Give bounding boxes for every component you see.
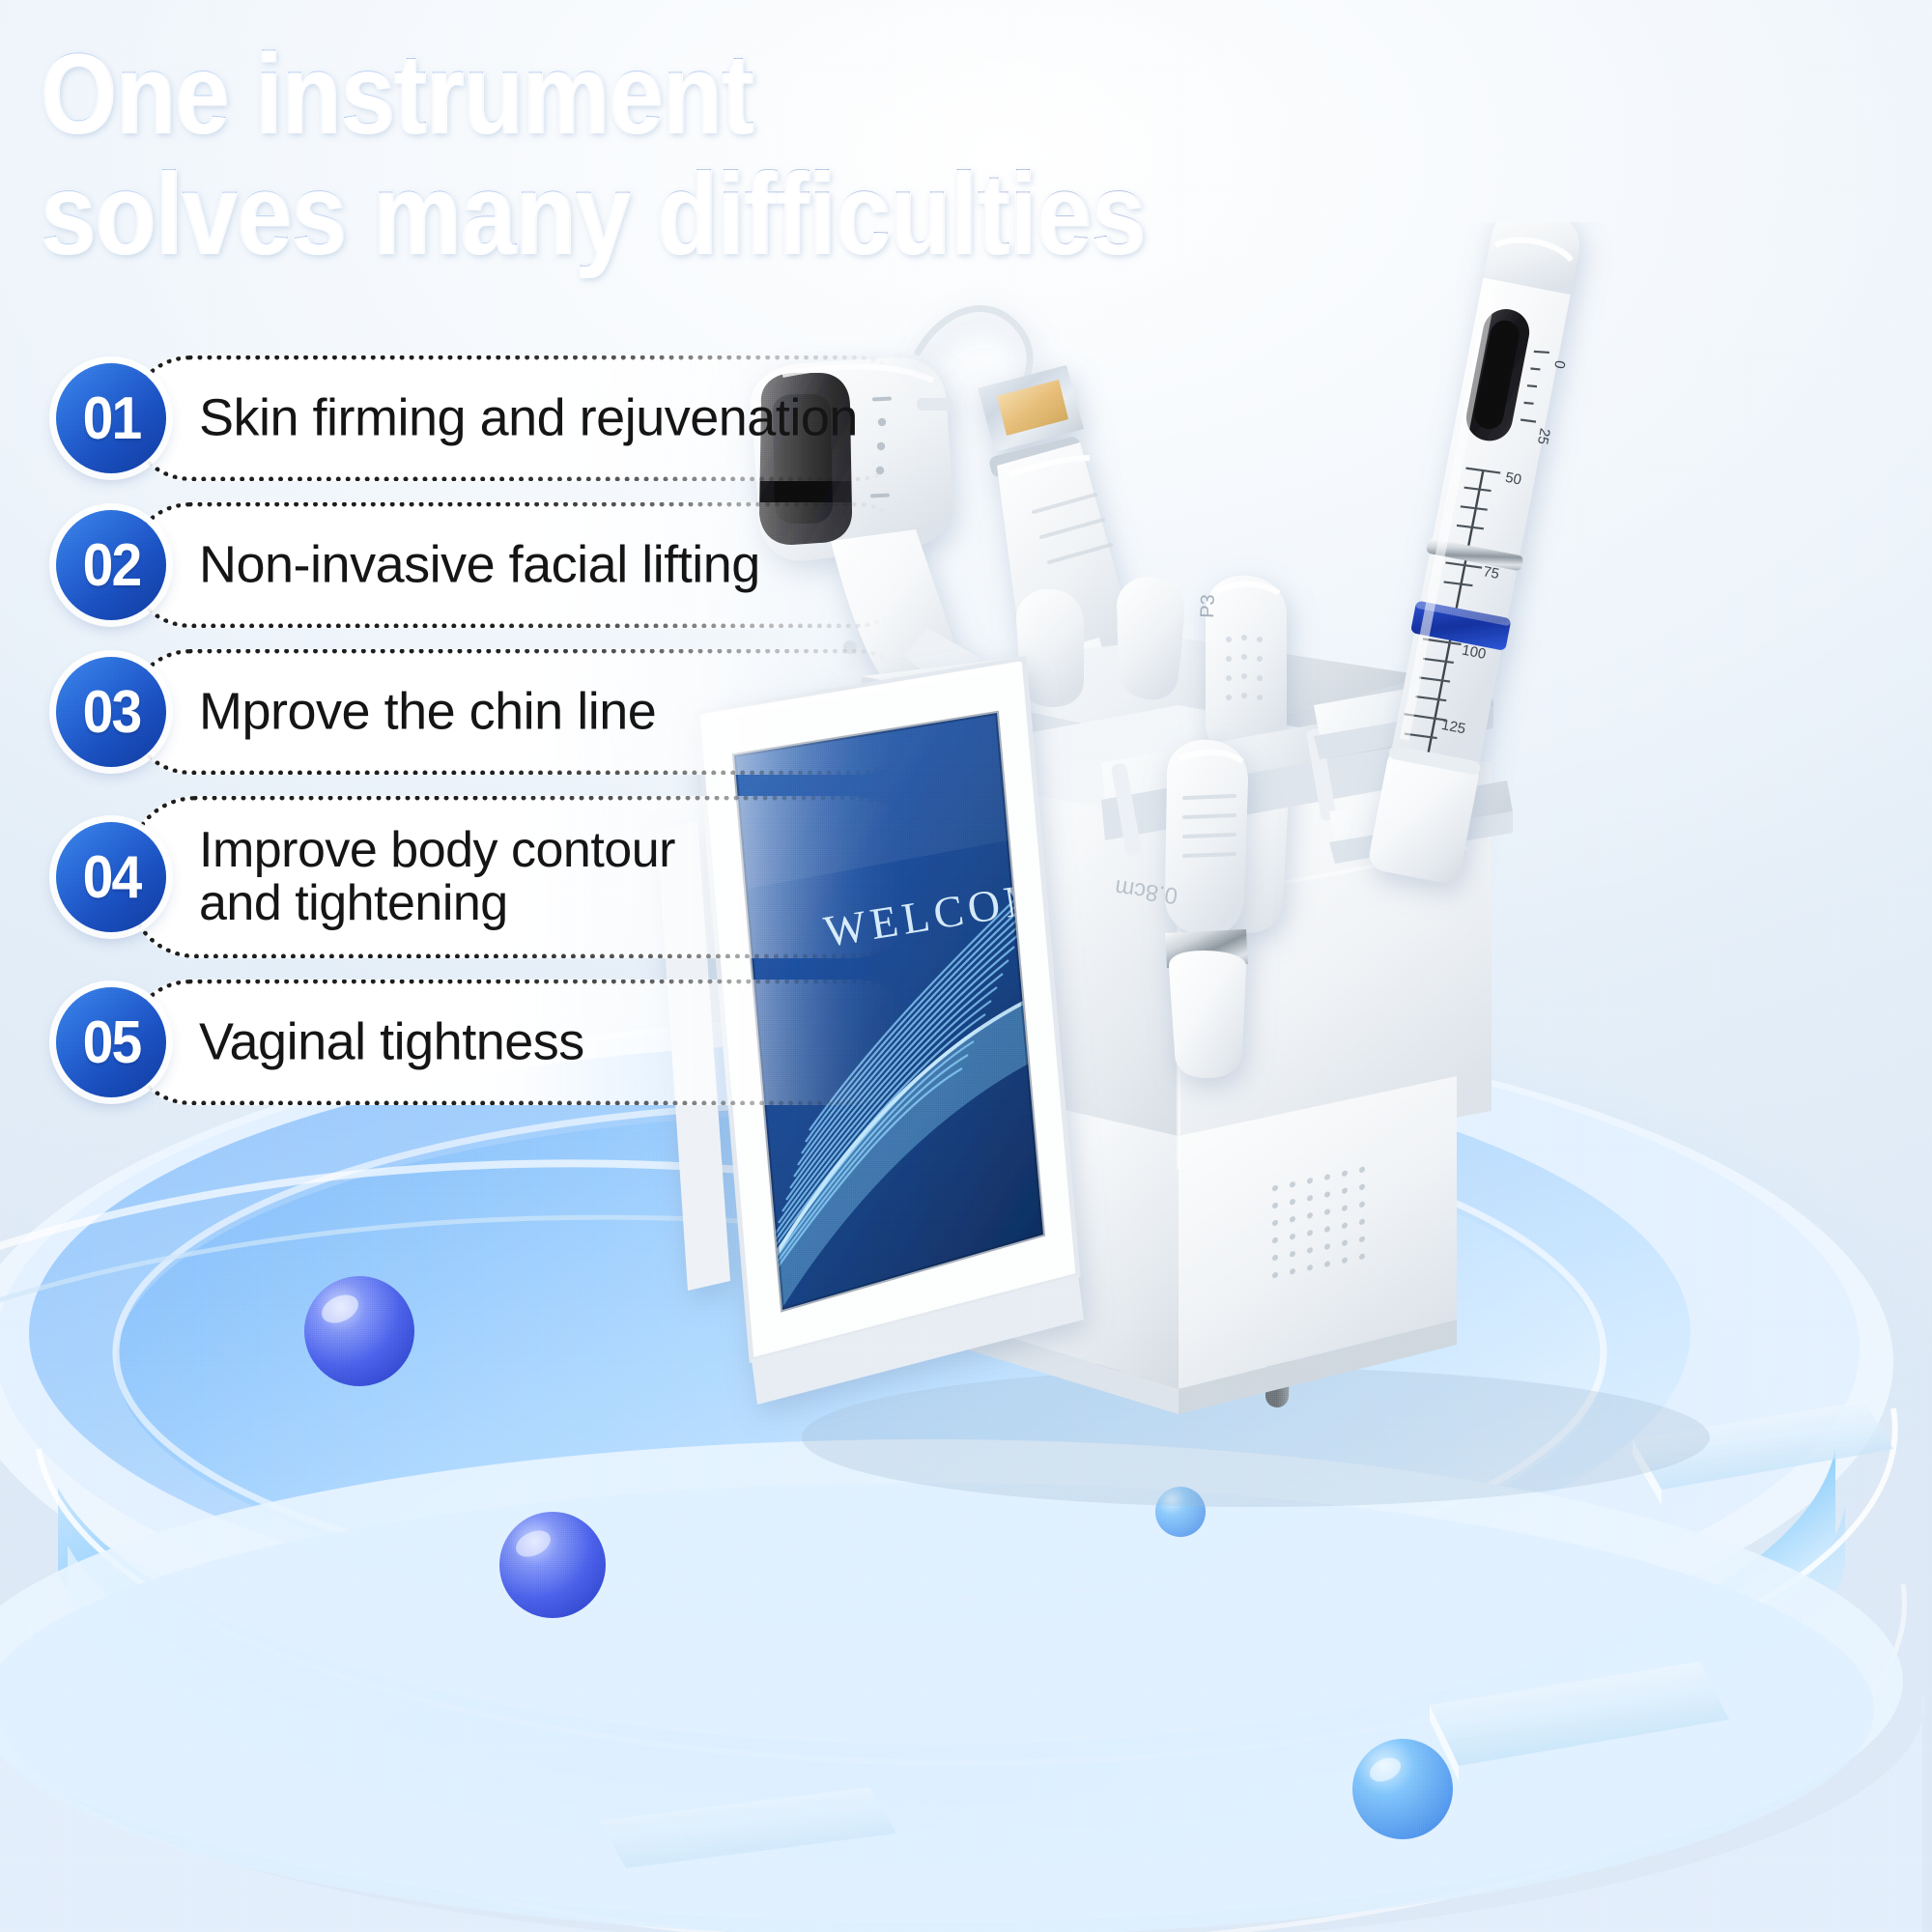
feature-badge-02: 02 — [56, 510, 166, 620]
feature-item-04[interactable]: 04 Improve body contour and tightening — [35, 796, 962, 958]
svg-text:25: 25 — [1534, 427, 1553, 446]
handpiece-body-probe — [1165, 740, 1248, 1078]
feature-item-03[interactable]: 03 Mprove the chin line — [35, 649, 962, 775]
feature-badge-03: 03 — [56, 657, 166, 767]
feature-text-01: Skin firming and rejuvenation — [199, 390, 858, 445]
feature-text-02: Non-invasive facial lifting — [199, 537, 760, 592]
feature-number-label: 01 — [82, 384, 140, 453]
feature-number-label: 03 — [82, 678, 140, 747]
feature-item-05[interactable]: 05 Vaginal tightness — [35, 980, 962, 1105]
handpiece-label-p3: P3 — [1197, 594, 1219, 618]
feature-badge-05: 05 — [56, 987, 166, 1097]
feature-number-label: 02 — [82, 531, 140, 600]
feature-number-label: 05 — [82, 1009, 140, 1077]
headline-line-2: solves many difficulties — [41, 159, 1337, 269]
feature-list: 01 Skin firming and rejuvenation 02 Non-… — [35, 355, 962, 1126]
feature-badge-01: 01 — [56, 363, 166, 473]
feature-badge-04: 04 — [56, 822, 166, 932]
feature-text-04: Improve body contour and tightening — [199, 824, 675, 930]
headline-line-1: One instrument — [41, 41, 1337, 148]
page-title: One instrument solves many difficulties — [41, 41, 1548, 269]
svg-text:75: 75 — [1482, 563, 1501, 582]
feature-number-label: 04 — [82, 843, 140, 912]
feature-item-02[interactable]: 02 Non-invasive facial lifting — [35, 502, 962, 628]
svg-text:50: 50 — [1504, 469, 1523, 489]
feature-text-05: Vaginal tightness — [199, 1014, 584, 1069]
poster-canvas: WELCOME P3 — [0, 0, 1932, 1932]
feature-item-01[interactable]: 01 Skin firming and rejuvenation — [35, 355, 962, 481]
feature-text-03: Mprove the chin line — [199, 684, 656, 739]
